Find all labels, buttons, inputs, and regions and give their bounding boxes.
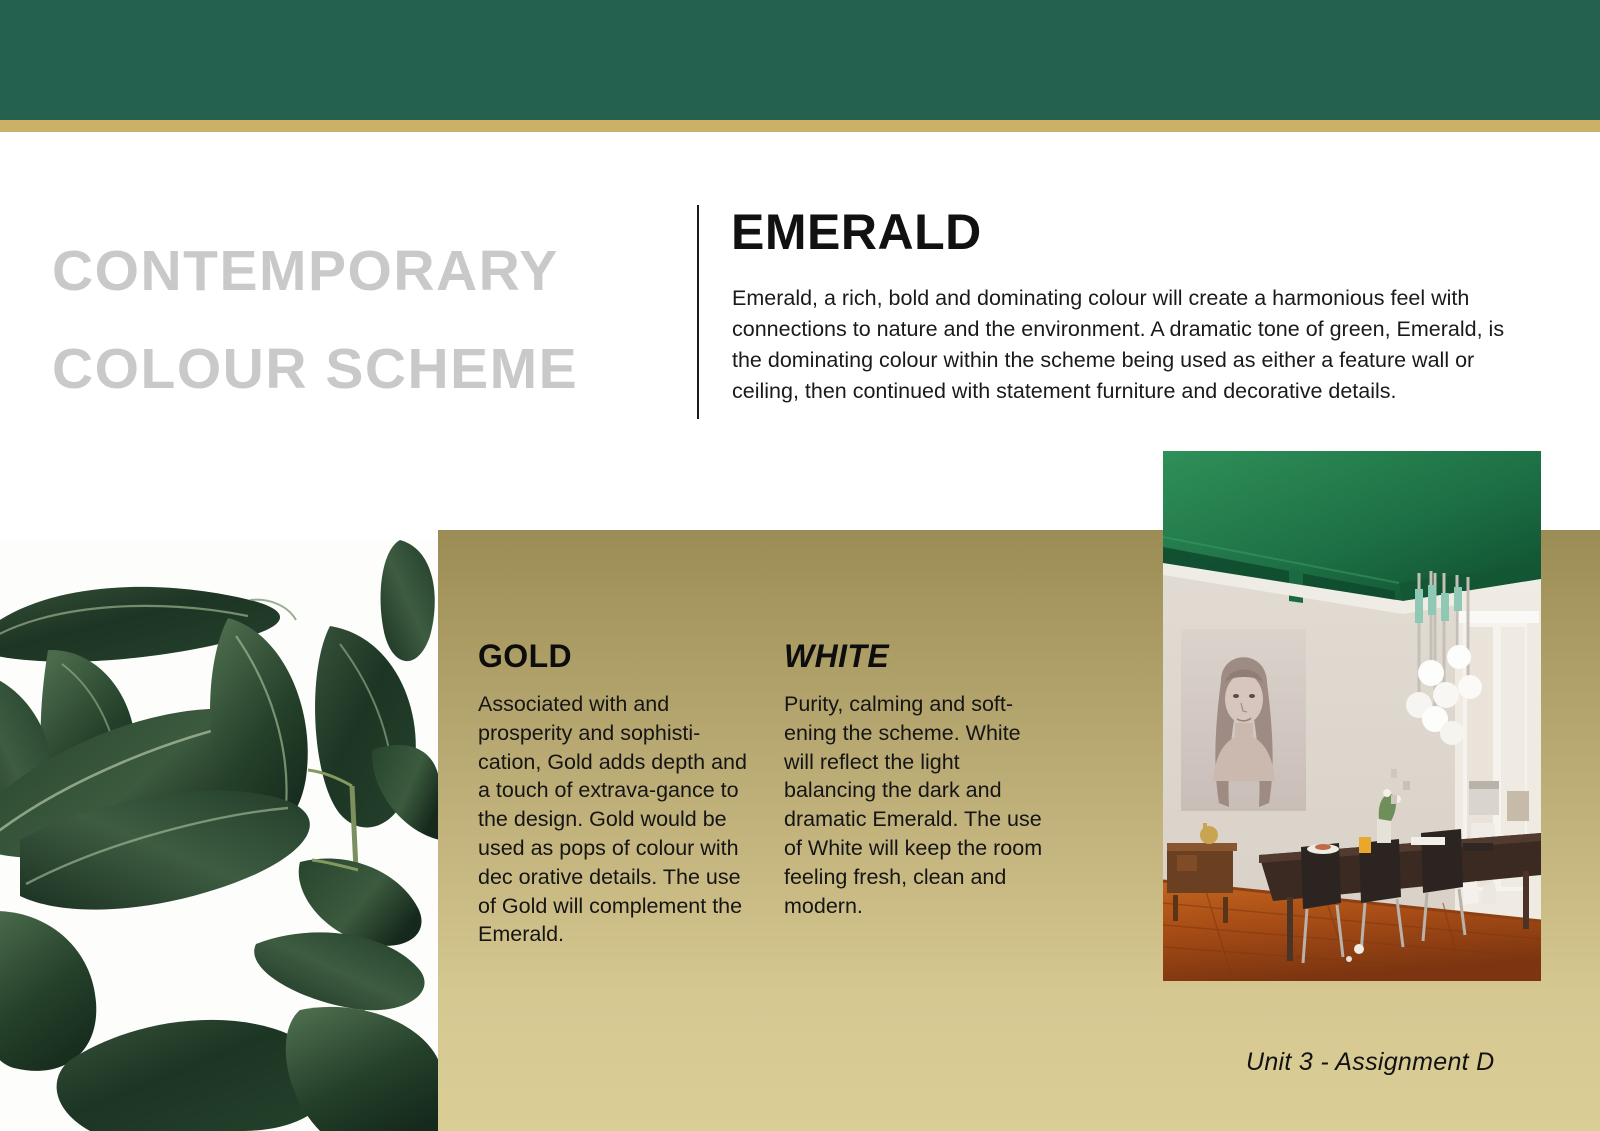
interior-illustration	[1163, 451, 1541, 981]
white-description: Purity, calming and soft-ening the schem…	[784, 690, 1054, 920]
emerald-heading: EMERALD	[731, 207, 982, 257]
plant-illustration	[0, 540, 440, 1131]
dining-room-photo	[1163, 451, 1541, 981]
colour-column-gold: GOLD Associated with and prosperity and …	[478, 640, 748, 949]
rubber-plant-photo	[0, 540, 440, 1131]
header-green-bar	[0, 0, 1600, 120]
colour-column-white: WHITE Purity, calming and soft-ening the…	[784, 640, 1054, 920]
page-title-line-1: CONTEMPORARY	[52, 239, 559, 303]
white-heading: WHITE	[784, 640, 1054, 672]
vertical-divider	[697, 205, 699, 419]
gold-heading: GOLD	[478, 640, 748, 672]
page-title: CONTEMPORARY COLOUR SCHEME	[52, 222, 652, 418]
gold-description: Associated with and prosperity and sophi…	[478, 690, 748, 949]
assignment-footer: Unit 3 - Assignment D	[1246, 1048, 1495, 1077]
emerald-description: Emerald, a rich, bold and dominating col…	[732, 283, 1522, 407]
page-title-line-2: COLOUR SCHEME	[52, 320, 652, 418]
presentation-board: CONTEMPORARY COLOUR SCHEME EMERALD Emera…	[0, 0, 1600, 1131]
header-gold-accent-bar	[0, 120, 1600, 132]
